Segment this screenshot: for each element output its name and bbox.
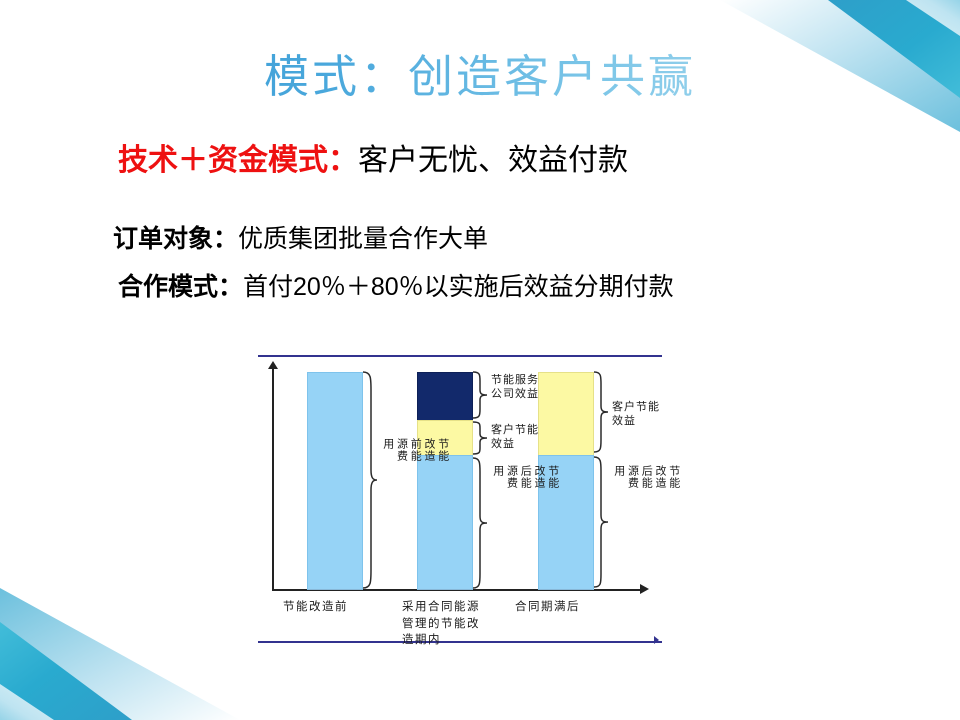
bar-segment-energy-cost xyxy=(307,372,363,590)
brace-customer-benefit-right xyxy=(593,370,609,455)
bullet-label: 合作模式 xyxy=(118,273,218,301)
x-axis-label-before-retrofit: 节能改造前 xyxy=(283,598,383,615)
page-title: 模式：创造客户共赢 xyxy=(0,52,960,102)
brace-customer-benefit-mid xyxy=(472,420,488,456)
x-axis-label-after-contract: 合同期满后 xyxy=(515,598,610,615)
bullet-separator: ： xyxy=(218,273,243,301)
y-axis xyxy=(272,368,274,590)
annotation-esco-benefit: 节能服务 公司效益 xyxy=(491,373,539,402)
annotation-customer-benefit-right: 客户节能 效益 xyxy=(612,400,660,429)
bullet-cooperation-mode: 合作模式：首付20％＋80％以实施后效益分期付款 xyxy=(118,272,674,302)
bullet-value: 首付20％＋80％以实施后效益分期付款 xyxy=(243,273,674,301)
headline-rest: 客户无忧、效益付款 xyxy=(358,144,628,177)
brace-post-energy-cost-right xyxy=(593,455,609,590)
bullet-value: 优质集团批量合作大单 xyxy=(238,225,488,253)
bar-group-before-retrofit xyxy=(307,372,363,590)
bottom-left-decoration xyxy=(0,570,260,720)
headline: 技术＋资金模式：客户无忧、效益付款 xyxy=(118,143,628,179)
bullet-separator: ： xyxy=(213,225,238,253)
bullet-order-target: 订单对象：优质集团批量合作大单 xyxy=(113,224,488,254)
bullet-label: 订单对象 xyxy=(113,225,213,253)
emc-benefit-bar-chart: 节能 改造 前能 源费 用 节能服务 公司效益 客户节能 效益 节能 改造 后能… xyxy=(250,345,670,665)
annotation-customer-benefit-mid: 客户节能 效益 xyxy=(491,423,539,452)
bar-segment-esco-benefit xyxy=(417,372,473,420)
brace-before-retrofit xyxy=(362,370,378,590)
annotation-pre-energy-cost: 节能 改造 前能 源费 用 xyxy=(381,438,450,560)
brace-esco-benefit xyxy=(472,370,488,420)
annotation-post-energy-cost-mid: 节能 改造 后能 源费 用 xyxy=(491,465,560,587)
x-axis-label-during-contract: 采用合同能源 管理的节能改 造期内 xyxy=(402,598,497,648)
chart-bottom-rule-arrow-icon xyxy=(654,636,659,644)
brace-post-energy-cost-mid xyxy=(472,456,488,590)
chart-top-rule xyxy=(258,355,662,357)
headline-emphasis: 技术＋资金模式： xyxy=(118,144,358,177)
bar-segment-customer-benefit xyxy=(538,372,594,455)
annotation-post-energy-cost-right: 节能 改造 后能 源费 用 xyxy=(612,465,681,587)
